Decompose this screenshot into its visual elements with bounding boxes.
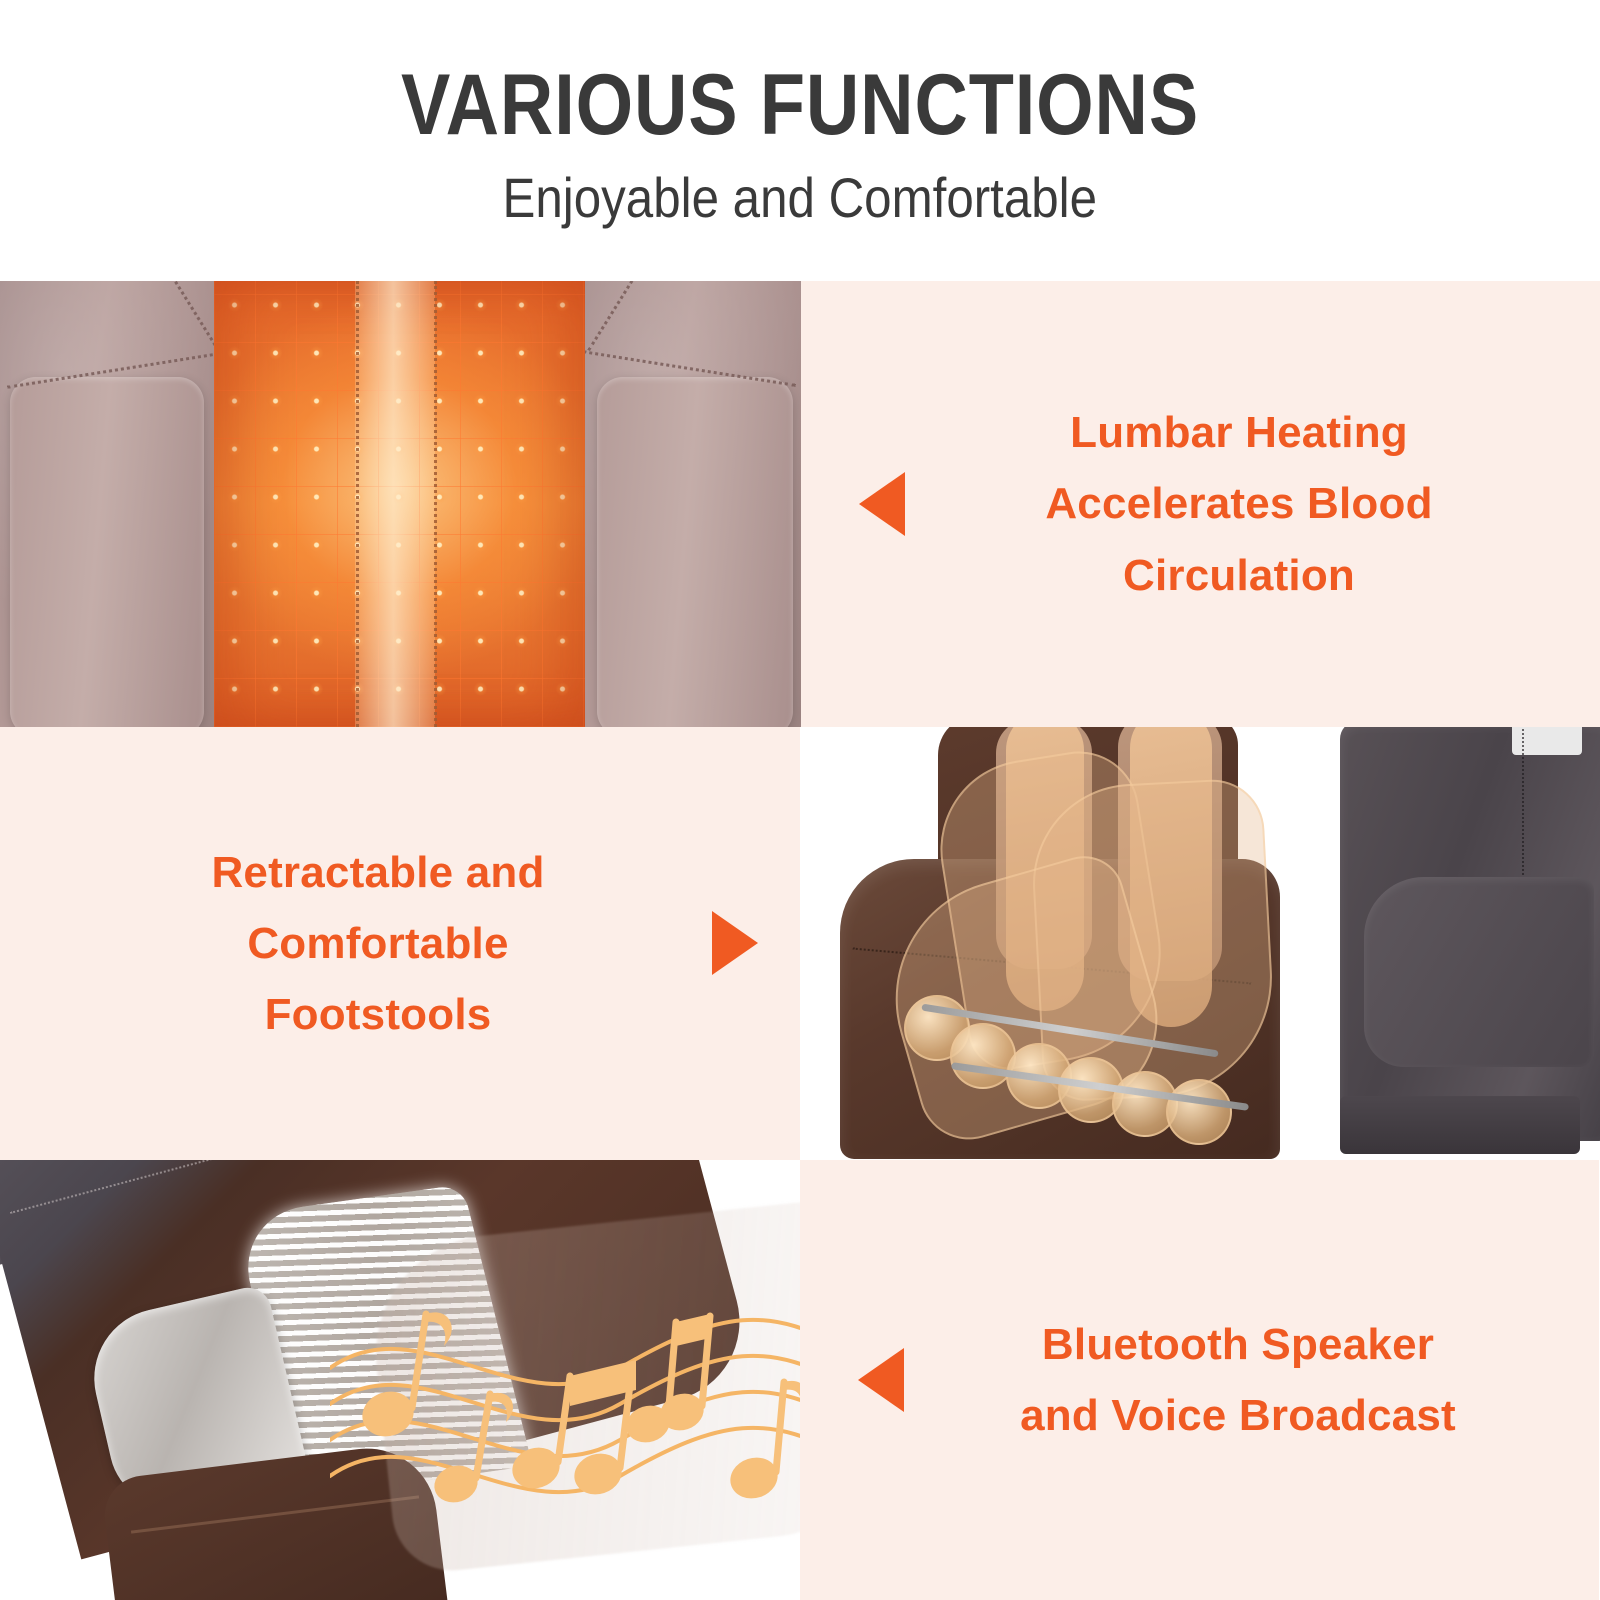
page-subtitle: Enjoyable and Comfortable	[503, 148, 1097, 226]
callout-line: Circulation	[939, 540, 1539, 611]
callout-lumbar-heating: Lumbar Heating Accelerates Blood Circula…	[801, 397, 1600, 611]
page-header: VARIOUS FUNCTIONS Enjoyable and Comforta…	[0, 0, 1600, 281]
chair-side-panel	[1364, 877, 1594, 1067]
callout-line: Lumbar Heating	[939, 397, 1539, 468]
callout-text-bluetooth-speaker: Bluetooth Speaker and Voice Broadcast	[938, 1309, 1538, 1452]
center-stitch-left	[356, 281, 359, 727]
callout-text-lumbar-heating: Lumbar Heating Accelerates Blood Circula…	[939, 397, 1539, 611]
lumbar-heating-photo	[0, 281, 801, 727]
callout-line: Footstools	[78, 979, 678, 1050]
center-stitch-right	[434, 281, 437, 727]
page-title: VARIOUS FUNCTIONS	[401, 62, 1199, 148]
callout-line: Bluetooth Speaker	[938, 1309, 1538, 1380]
music-notes-icon	[330, 1256, 800, 1556]
feature-row-bluetooth-speaker: Bluetooth Speaker and Voice Broadcast	[0, 1160, 1600, 1600]
center-strip	[355, 281, 435, 727]
bolster-right	[597, 377, 793, 727]
infographic-page: VARIOUS FUNCTIONS Enjoyable and Comforta…	[0, 0, 1600, 1600]
speaker-illustration	[0, 1160, 800, 1600]
triangle-left-icon	[859, 472, 905, 536]
bluetooth-speaker-photo	[0, 1160, 800, 1600]
triangle-left-icon	[858, 1348, 904, 1412]
bolster-left	[10, 377, 204, 727]
retractable-footstool-photo	[800, 727, 1600, 1160]
callout-line: Accelerates Blood	[939, 468, 1539, 539]
feature-row-lumbar-heating: Lumbar Heating Accelerates Blood Circula…	[0, 281, 1600, 727]
callout-line: Comfortable	[78, 908, 678, 979]
triangle-right-icon	[712, 911, 758, 975]
callout-text-retractable-footstools: Retractable and Comfortable Footstools	[78, 837, 678, 1051]
lumbar-heating-illustration	[0, 281, 801, 727]
callout-bluetooth-speaker: Bluetooth Speaker and Voice Broadcast	[800, 1309, 1599, 1452]
lumbar-heating-caption-panel: Lumbar Heating Accelerates Blood Circula…	[801, 281, 1600, 727]
bluetooth-speaker-caption-panel: Bluetooth Speaker and Voice Broadcast	[800, 1160, 1599, 1600]
callout-retractable-footstools: Retractable and Comfortable Footstools	[0, 837, 800, 1051]
chair-base	[1340, 1096, 1580, 1154]
feature-row-retractable-footstools: Retractable and Comfortable Footstools	[0, 727, 1600, 1160]
foot-roller	[1166, 1079, 1232, 1145]
callout-line: Retractable and	[78, 837, 678, 908]
callout-line: and Voice Broadcast	[938, 1380, 1538, 1451]
footstool-illustration	[800, 727, 1600, 1160]
footstools-caption-panel: Retractable and Comfortable Footstools	[0, 727, 800, 1160]
